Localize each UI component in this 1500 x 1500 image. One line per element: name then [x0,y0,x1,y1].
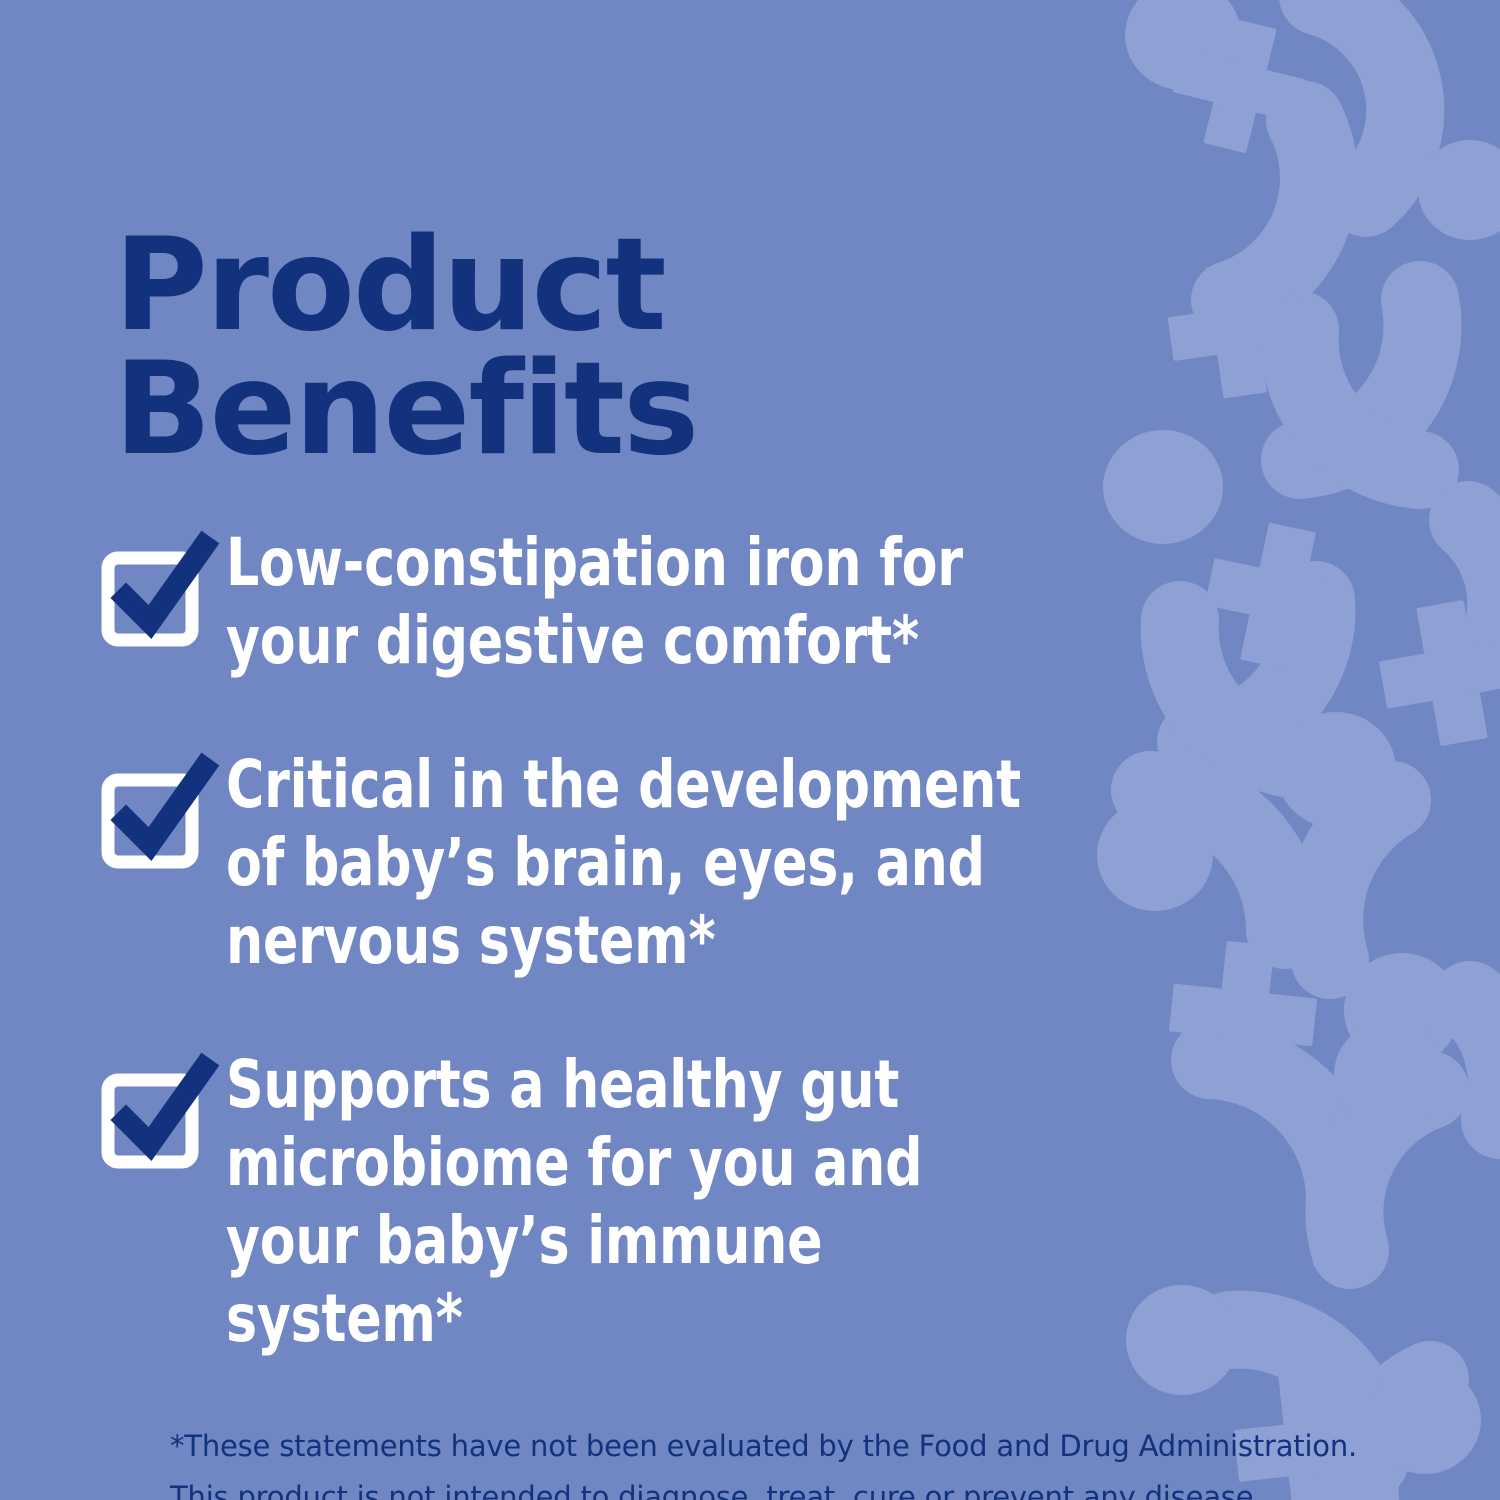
benefit-text: Critical in the development of baby’s br… [226,742,1066,980]
benefit-item: Low-constipation iron for your digestive… [100,520,1180,680]
product-benefits-panel: Product Benefits Low-constipation iron f… [0,0,1500,1500]
benefit-text: Supports a healthy gut microbiome for yo… [226,1042,1066,1358]
benefits-list: Low-constipation iron for your digestive… [100,520,1180,1358]
checkbox-checked-icon [100,1062,226,1172]
benefit-item: Critical in the development of baby’s br… [100,742,1180,980]
benefit-item: Supports a healthy gut microbiome for yo… [100,1042,1180,1358]
footer-disclaimer: *These statements have not been evaluate… [170,1421,1370,1500]
checkbox-checked-icon [100,762,226,872]
benefit-text: Low-constipation iron for your digestive… [226,520,1066,680]
checkbox-checked-icon [100,540,226,650]
page-title: Product Benefits [114,224,874,472]
